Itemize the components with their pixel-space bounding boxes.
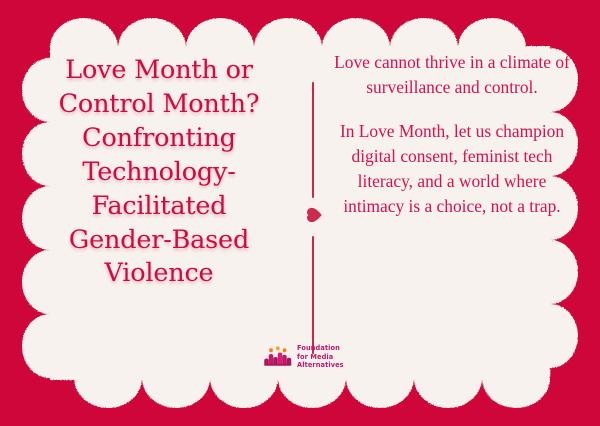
body-copy: Love cannot thrive in a climate of surve… <box>330 50 574 219</box>
logo-line: for Media <box>297 353 344 362</box>
headline-line: Technology- <box>30 156 288 190</box>
headline-line: Love Month or <box>30 54 288 88</box>
body-paragraph: In Love Month, let us champion digital c… <box>330 119 574 219</box>
fma-logo: Foundation for Media Alternatives <box>262 340 372 374</box>
card-content: Love Month or Control Month? Confronting… <box>22 18 578 408</box>
headline-line: Control Month? <box>30 88 288 122</box>
divider-line-top <box>312 82 314 198</box>
headline-line: Facilitated <box>30 190 288 224</box>
body-paragraph: Love cannot thrive in a climate of surve… <box>330 50 574 100</box>
headline-line: Violence <box>30 257 288 291</box>
page-title: Love Month or Control Month? Confronting… <box>30 54 288 291</box>
heart-icon <box>304 205 324 225</box>
column-divider <box>296 64 330 364</box>
divider-line-bottom <box>312 236 314 354</box>
headline-line: Confronting <box>30 122 288 156</box>
headline-line: Gender-Based <box>30 224 288 258</box>
fma-logo-text: Foundation for Media Alternatives <box>297 344 344 370</box>
logo-line: Alternatives <box>297 361 344 370</box>
fma-people-waveform-icon <box>262 345 292 369</box>
poster-canvas: Love Month or Control Month? Confronting… <box>0 0 600 426</box>
logo-line: Foundation <box>297 344 344 353</box>
